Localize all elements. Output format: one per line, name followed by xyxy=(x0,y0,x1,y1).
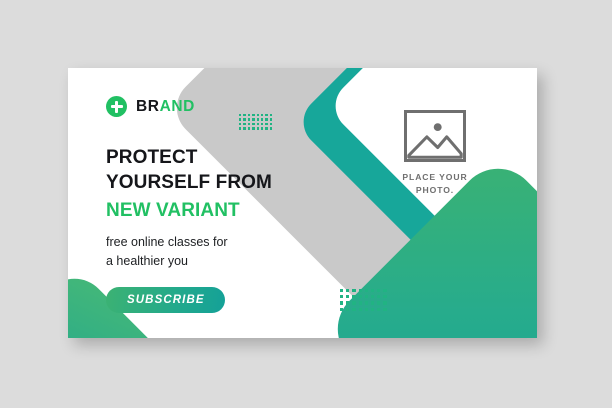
dot xyxy=(383,301,386,304)
dot xyxy=(371,295,374,298)
dot xyxy=(340,295,343,298)
headline-accent-line: NEW VARIANT xyxy=(106,198,336,223)
headline-line-2: YOURSELF FROM xyxy=(106,170,336,195)
photo-placeholder-caption: PLACE YOUR PHOTO. xyxy=(375,171,495,197)
page-title: PROTECT YOURSELF FROM xyxy=(106,145,336,196)
dot xyxy=(377,295,380,298)
dot xyxy=(346,301,349,304)
plus-circle-icon xyxy=(106,96,127,117)
dot xyxy=(383,289,386,292)
brand-name: BRAND xyxy=(136,98,195,116)
dot xyxy=(371,289,374,292)
canvas: BRAND PROTECT YOURSELF FROM NEW VARIANT … xyxy=(0,0,612,408)
subcopy-line-2: a healthier you xyxy=(106,252,336,271)
photo-caption-line-2: PHOTO. xyxy=(375,184,495,197)
dot xyxy=(346,295,349,298)
dot xyxy=(371,308,374,311)
dot xyxy=(340,301,343,304)
dot xyxy=(359,301,362,304)
dot xyxy=(346,289,349,292)
dot xyxy=(377,308,380,311)
dot-grid-bottom xyxy=(340,289,387,311)
dot xyxy=(365,308,368,311)
brand-name-accent: AND xyxy=(160,98,195,115)
banner-card: BRAND PROTECT YOURSELF FROM NEW VARIANT … xyxy=(68,68,537,338)
dot xyxy=(340,308,343,311)
dot xyxy=(383,308,386,311)
brand-name-dark: BR xyxy=(136,98,160,115)
banner-content: BRAND PROTECT YOURSELF FROM NEW VARIANT … xyxy=(106,96,336,313)
image-placeholder-icon xyxy=(404,110,466,162)
dot xyxy=(365,289,368,292)
dot xyxy=(383,295,386,298)
subscribe-button[interactable]: SUBSCRIBE xyxy=(106,287,225,313)
dot xyxy=(352,289,355,292)
dot xyxy=(352,295,355,298)
subcopy: free online classes for a healthier you xyxy=(106,233,336,271)
subcopy-line-1: free online classes for xyxy=(106,233,336,252)
dot xyxy=(352,301,355,304)
dot xyxy=(359,308,362,311)
dot xyxy=(377,289,380,292)
brand-lockup[interactable]: BRAND xyxy=(106,96,336,117)
dot xyxy=(365,295,368,298)
dot xyxy=(371,301,374,304)
dot xyxy=(377,301,380,304)
dot xyxy=(340,289,343,292)
headline-line-1: PROTECT xyxy=(106,145,336,170)
dot xyxy=(365,301,368,304)
photo-caption-line-1: PLACE YOUR xyxy=(375,171,495,184)
dot xyxy=(359,295,362,298)
dot xyxy=(359,289,362,292)
dot xyxy=(352,308,355,311)
photo-placeholder[interactable]: PLACE YOUR PHOTO. xyxy=(375,110,495,197)
dot xyxy=(346,308,349,311)
